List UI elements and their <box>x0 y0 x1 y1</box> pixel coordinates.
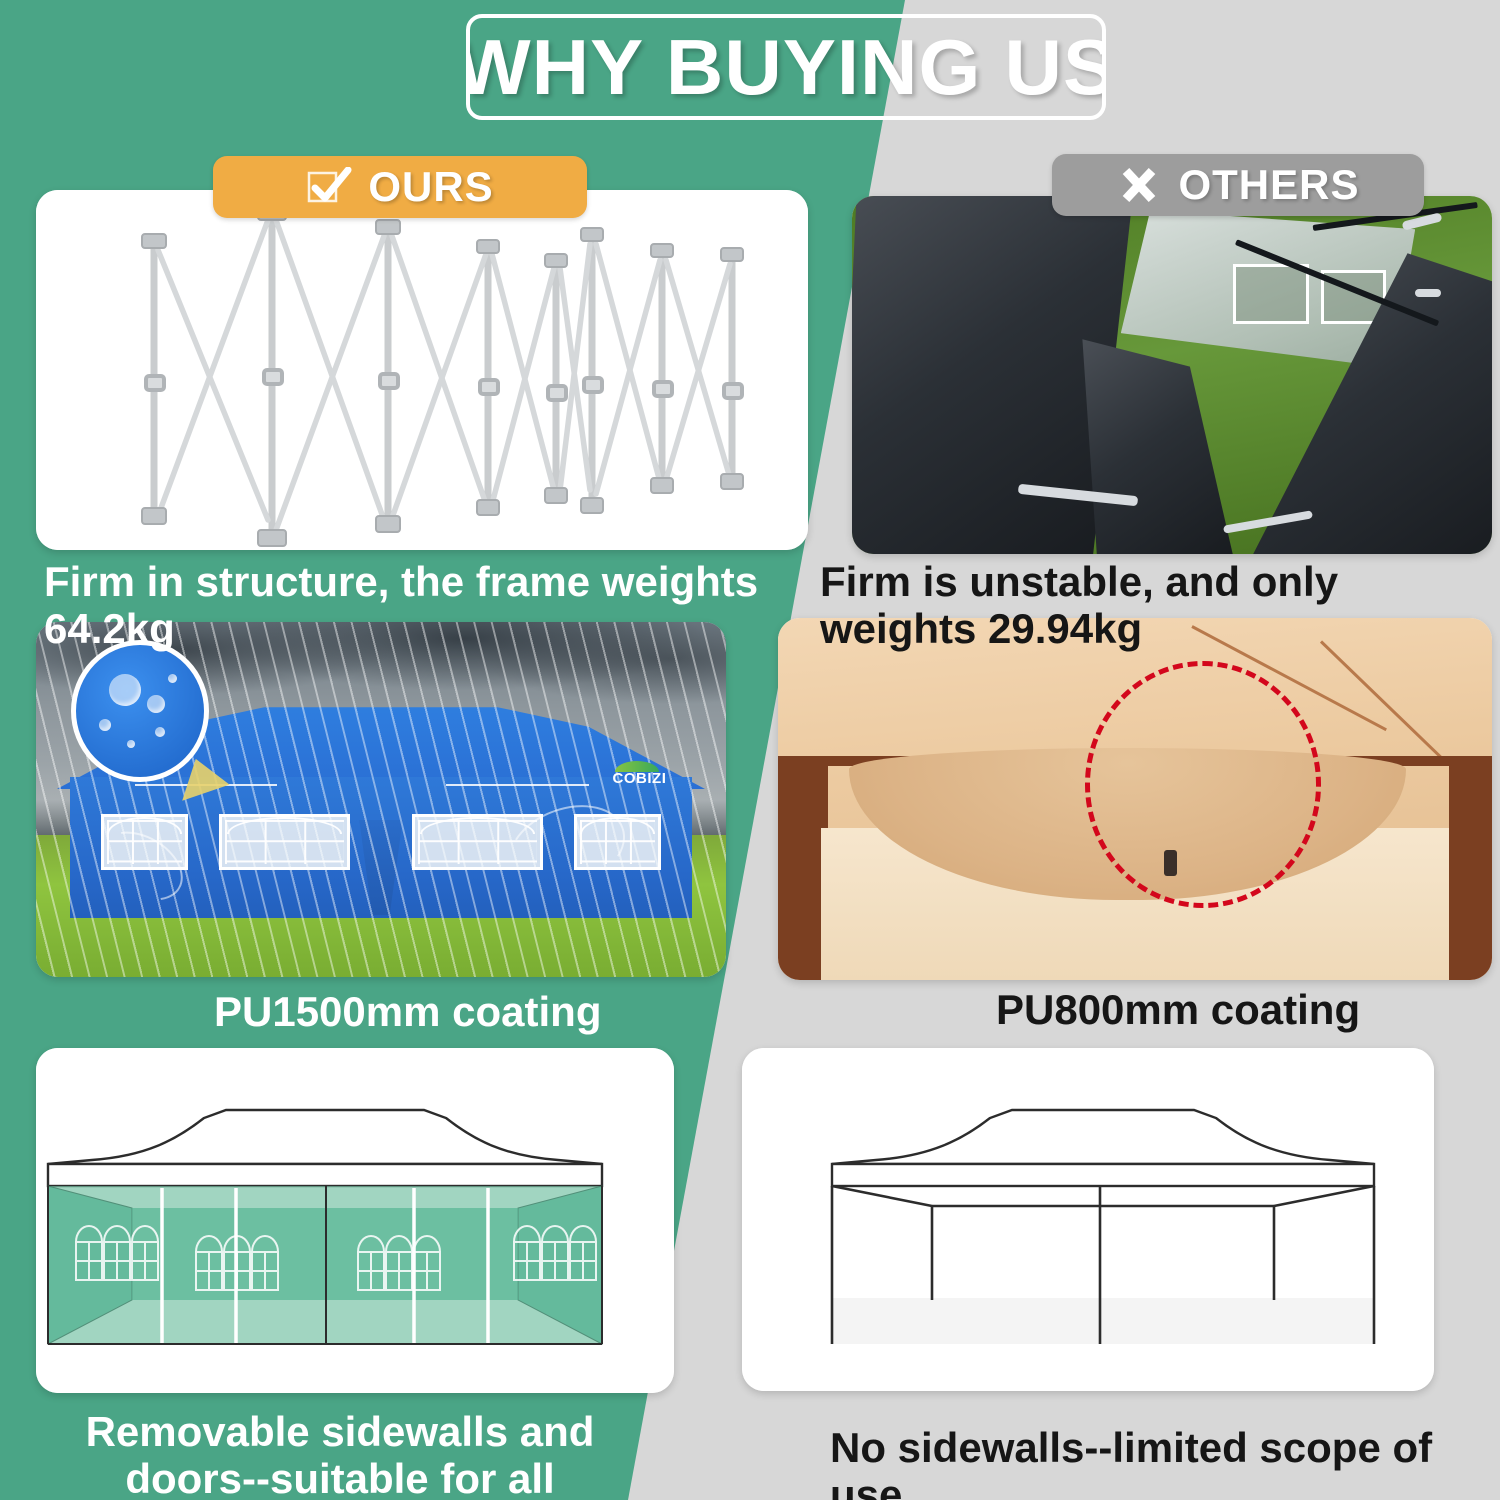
caption-ours-row2: PU1500mm coating <box>214 988 814 1035</box>
collapsed-dark-tent-photo <box>852 196 1492 554</box>
x-mark-icon <box>1116 165 1162 205</box>
infographic-page: WHY BUYING US OURS OTHERS <box>0 0 1500 1500</box>
caption-ours-row1: Firm in structure, the frame weights 64.… <box>44 558 834 652</box>
card-ours-sidewalls-diagram <box>36 1048 674 1393</box>
droplet-large <box>109 674 141 706</box>
droplet-medium <box>147 695 165 713</box>
card-ours-frame <box>36 190 808 550</box>
caption-others-row1: Firm is unstable, and only weights 29.94… <box>820 558 1500 652</box>
pole-clip-right <box>1415 289 1441 297</box>
caption-others-row3: No sidewalls--limited scope of use <box>830 1424 1470 1500</box>
caption-others-row2: PU800mm coating <box>996 986 1500 1033</box>
window-pane-left <box>1233 264 1310 324</box>
droplet-small-3 <box>127 740 135 748</box>
column-badge-others: OTHERS <box>1052 154 1424 216</box>
logo-arch-icon <box>615 761 659 772</box>
frame-drawing <box>36 190 808 550</box>
caption-ours-row3-line1: Removable sidewalls and <box>60 1408 620 1455</box>
droplet-small-4 <box>168 674 177 683</box>
card-others-collapsed-tent <box>852 196 1492 554</box>
canopy-without-sidewalls-diagram <box>742 1048 1434 1391</box>
column-badge-ours-label: OURS <box>368 163 493 211</box>
canopy-with-sidewalls-diagram <box>36 1048 674 1393</box>
page-title: WHY BUYING US <box>466 22 1106 113</box>
water-droplet-inset <box>71 640 209 782</box>
column-badge-ours: OURS <box>213 156 587 218</box>
sidewall-canopy-svg <box>36 1048 674 1393</box>
caption-ours-row3: Removable sidewalls and doors--suitable … <box>60 1408 620 1500</box>
brand-logo: COBIZI <box>613 770 667 787</box>
frame-post-right <box>1449 756 1492 980</box>
sagging-beige-canopy-photo <box>778 618 1492 980</box>
bare-canopy-svg <box>742 1048 1434 1391</box>
page-title-frame: WHY BUYING US <box>466 14 1106 120</box>
droplet-small-2 <box>155 727 165 737</box>
card-others-sagging-tent <box>778 618 1492 980</box>
droplet-small-1 <box>99 719 111 731</box>
caption-ours-row3-line2: doors--suitable for all seasons <box>60 1455 620 1500</box>
red-highlight-circle <box>1085 661 1321 907</box>
card-others-no-sidewalls-diagram <box>742 1048 1434 1391</box>
column-badge-others-label: OTHERS <box>1178 161 1359 209</box>
card-ours-rain-tent: COBIZI <box>36 622 726 977</box>
accordion-scissor-frame-photo <box>36 190 808 550</box>
checkbox-check-icon <box>306 167 352 207</box>
blue-tent-in-rain-photo: COBIZI <box>36 622 726 977</box>
